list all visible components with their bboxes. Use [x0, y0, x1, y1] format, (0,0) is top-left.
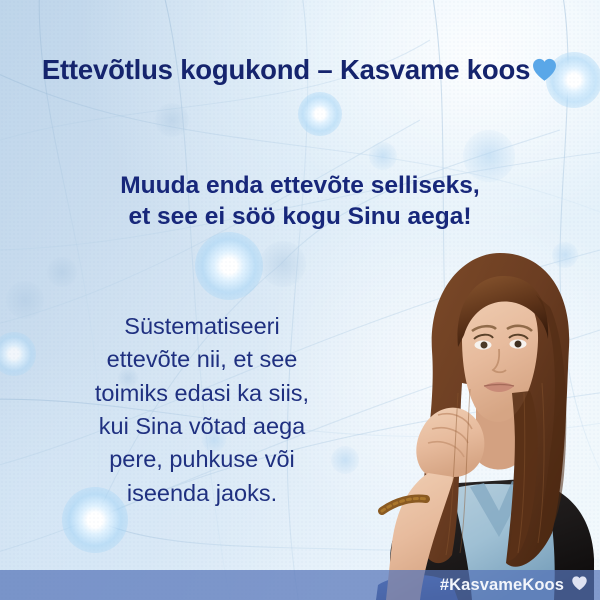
body-paragraph: Süstematiseeri ettevõte nii, et see toim… — [26, 310, 378, 510]
body-line-4: kui Sina võtad aega — [26, 410, 378, 443]
body-line-6: iseenda jaoks. — [26, 477, 378, 510]
portrait-image — [366, 243, 600, 600]
body-line-1: Süstematiseeri — [26, 310, 378, 343]
heart-icon — [531, 57, 558, 89]
subheading-line-2: et see ei söö kogu Sinu aega! — [0, 201, 600, 232]
page-title: Ettevõtlus kogukond – Kasvame koos — [0, 54, 600, 89]
heart-icon — [571, 575, 588, 596]
body-line-2: ettevõte nii, et see — [26, 343, 378, 376]
subheading-line-1: Muuda enda ettevõte selliseks, — [0, 170, 600, 201]
page-title-text: Ettevõtlus kogukond – Kasvame koos — [42, 54, 530, 85]
body-line-5: pere, puhkuse või — [26, 443, 378, 476]
body-line-3: toimiks edasi ka siis, — [26, 377, 378, 410]
poster-canvas: Ettevõtlus kogukond – Kasvame koos Muuda… — [0, 0, 600, 600]
footer-bar: #KasvameKoos — [0, 570, 600, 600]
subheading: Muuda enda ettevõte selliseks, et see ei… — [0, 170, 600, 233]
footer-hashtag: #KasvameKoos — [440, 576, 564, 595]
